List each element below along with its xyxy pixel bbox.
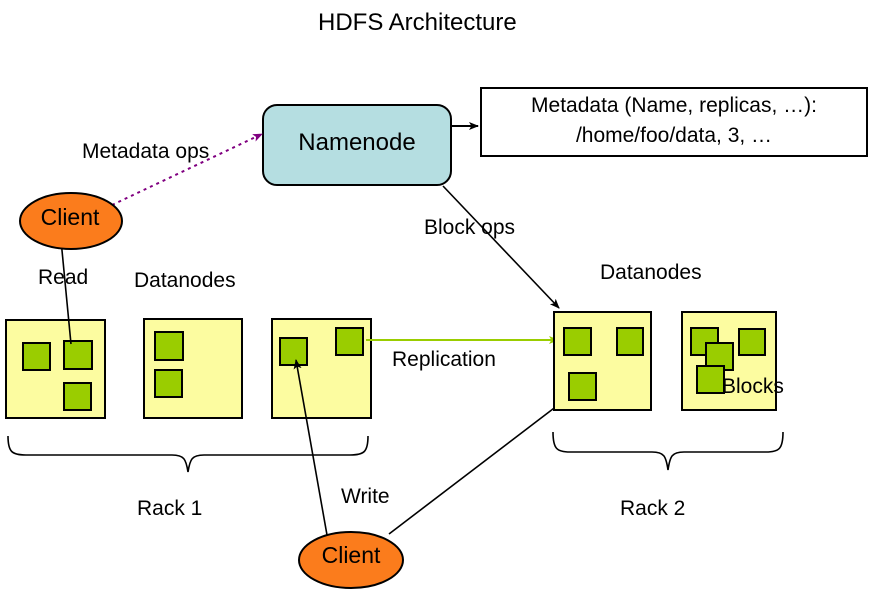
namenode-label: Namenode [263,129,451,157]
datanode-4-block-1 [564,328,591,355]
rack2-brace [553,432,783,470]
diagram-vector-layer [0,0,874,604]
metadata-box-line-1: Metadata (Name, replicas, …): [481,94,867,118]
datanodes-label-rack1: Datanodes [134,269,236,294]
block-ops-label: Block ops [424,216,515,241]
client-write-label: Client [303,542,399,569]
replication-label: Replication [392,348,496,373]
hdfs-architecture-diagram: HDFS Architecture Namenode Metadata (Nam… [0,0,874,604]
datanode-2-block-2 [155,370,182,397]
datanode-5-block-2 [739,329,765,355]
read-label: Read [38,266,88,291]
datanode-5-block-4 [697,366,724,393]
datanode-2-block-1 [155,332,183,360]
arrow-block-ops [443,186,559,308]
datanode-1-block-1 [23,343,50,370]
rack1-brace [8,436,368,472]
datanode-4-block-2 [617,328,643,355]
datanode-1-block-2 [64,341,92,369]
datanodes-label-rack2: Datanodes [600,261,702,286]
metadata-ops-label: Metadata ops [82,140,209,165]
datanode-3-block-1 [280,338,307,365]
rack1-label: Rack 1 [137,497,202,522]
client-read-label: Client [22,204,118,231]
rack2-label: Rack 2 [620,497,685,522]
blocks-label: Blocks [722,375,784,400]
page-title: HDFS Architecture [318,9,517,37]
datanode-1-block-3 [64,383,91,410]
datanode-3-block-2 [336,328,363,355]
arrow-write-to-rack2 [389,399,566,534]
metadata-box-line-2: /home/foo/data, 3, … [481,124,867,148]
datanode-4-block-3 [569,373,596,400]
write-label: Write [341,485,390,510]
